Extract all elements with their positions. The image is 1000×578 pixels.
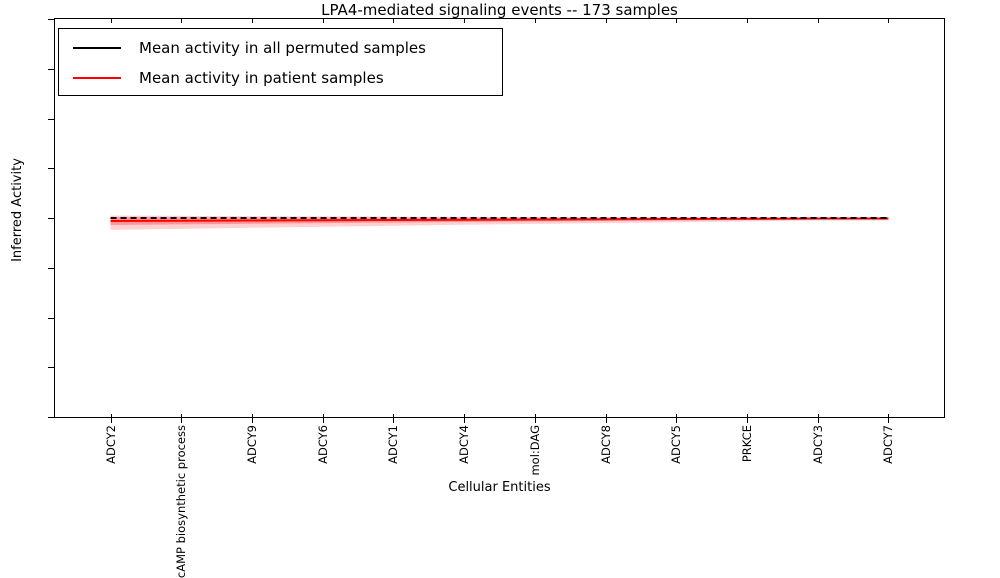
x-tick-mark (181, 19, 182, 23)
legend-label-permuted: Mean activity in all permuted samples (139, 39, 426, 57)
figure-canvas: LPA4-mediated signaling events -- 173 sa… (0, 0, 1000, 500)
x-tick-mark (535, 418, 536, 423)
x-tick-mark (252, 418, 253, 423)
chart-title: LPA4-mediated signaling events -- 173 sa… (54, 1, 945, 19)
x-tick-mark (393, 414, 394, 418)
x-tick-mark (252, 19, 253, 23)
x-tick-mark (676, 414, 677, 418)
x-tick-label: ADCY2 (104, 425, 118, 464)
x-tick-mark (676, 19, 677, 23)
x-tick-mark (535, 19, 536, 23)
x-tick-mark (747, 418, 748, 423)
legend-swatch-permuted (73, 47, 121, 49)
x-tick-mark (606, 418, 607, 423)
x-tick-label: ADCY9 (245, 425, 259, 464)
x-tick-mark (747, 19, 748, 23)
x-tick-mark (747, 414, 748, 418)
x-tick-mark (676, 418, 677, 423)
x-tick-mark (888, 418, 889, 423)
x-tick-mark (535, 414, 536, 418)
x-tick-mark (393, 19, 394, 23)
x-tick-mark (888, 414, 889, 418)
x-tick-mark (888, 19, 889, 23)
legend-label-patient: Mean activity in patient samples (139, 69, 384, 87)
x-tick-mark (181, 414, 182, 418)
x-tick-label: PRKCE (740, 425, 754, 462)
x-tick-mark (111, 418, 112, 423)
legend-entry-patient: Mean activity in patient samples (59, 63, 502, 93)
x-tick-mark (323, 19, 324, 23)
x-tick-mark (818, 19, 819, 23)
x-tick-mark (464, 418, 465, 423)
x-tick-label: ADCY8 (599, 425, 613, 464)
x-tick-mark (606, 414, 607, 418)
x-tick-label: ADCY1 (386, 425, 400, 464)
x-tick-mark (111, 414, 112, 418)
chart-legend: Mean activity in all permuted samples Me… (58, 28, 503, 96)
legend-entry-permuted: Mean activity in all permuted samples (59, 33, 502, 63)
x-tick-mark (323, 418, 324, 423)
y-axis-label: Inferred Activity (10, 110, 25, 310)
x-tick-label: cAMP biosynthetic process (174, 425, 188, 578)
x-tick-label: ADCY3 (811, 425, 825, 464)
x-tick-mark (818, 418, 819, 423)
x-tick-mark (464, 414, 465, 418)
x-tick-mark (252, 414, 253, 418)
x-tick-label: ADCY6 (316, 425, 330, 464)
x-tick-label: mol:DAG (528, 425, 542, 476)
x-tick-mark (818, 414, 819, 418)
x-tick-mark (111, 19, 112, 23)
x-tick-mark (606, 19, 607, 23)
x-tick-label: ADCY7 (881, 425, 895, 464)
x-tick-mark (323, 414, 324, 418)
x-tick-mark (393, 418, 394, 423)
x-tick-mark (181, 418, 182, 423)
x-tick-mark (464, 19, 465, 23)
x-tick-label: ADCY5 (669, 425, 683, 464)
legend-swatch-patient (73, 77, 121, 79)
x-tick-label: ADCY4 (457, 425, 471, 464)
